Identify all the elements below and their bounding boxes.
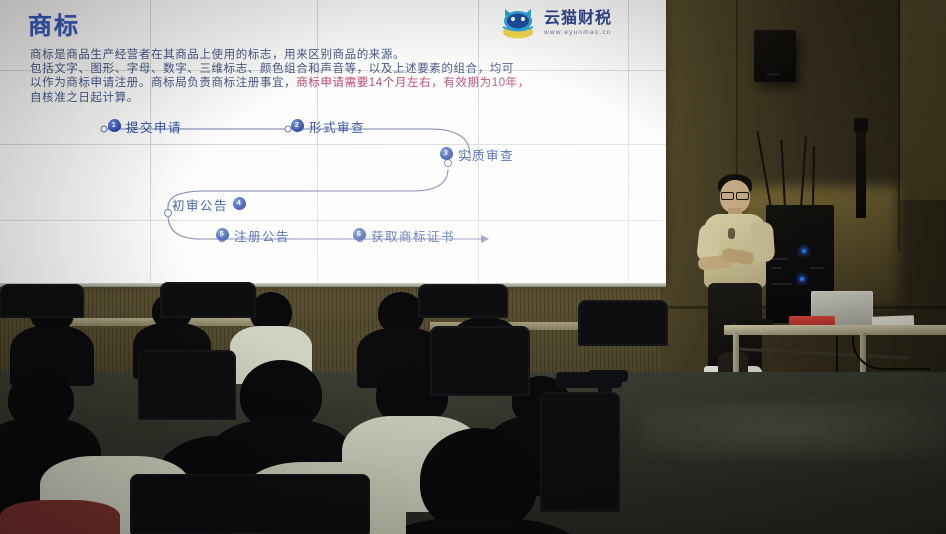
flow-node-label: 注册公告 bbox=[234, 226, 290, 245]
brand-name: 云猫财税 bbox=[544, 11, 612, 27]
audience-chair bbox=[0, 284, 84, 318]
audience-head bbox=[420, 428, 538, 532]
pa-speaker-on-pole bbox=[856, 128, 866, 218]
projected-slide: 商标 商标是商品生产经营者在其商品上使用的标志，用来区别商品的来源。 包括文字、… bbox=[0, 0, 666, 284]
slide-body-highlight: 商标申请需要14个月左右，有效期为10年， bbox=[296, 77, 530, 89]
flow-step-number: 2 bbox=[291, 119, 304, 132]
flow-step-badge-icon: 6 bbox=[353, 228, 366, 243]
wall-seam-vertical-2 bbox=[898, 0, 900, 250]
audience-chair bbox=[160, 282, 256, 318]
flow-step-badge-icon: 5 bbox=[216, 228, 229, 243]
floor-light-reflection bbox=[640, 400, 946, 460]
flow-node-3: 3实质审查 bbox=[440, 145, 514, 164]
status-led bbox=[802, 249, 806, 253]
flow-step-badge-icon: 2 bbox=[291, 119, 304, 134]
lecture-hall-scene: 商标 商标是商品生产经营者在其商品上使用的标志，用来区别商品的来源。 包括文字、… bbox=[0, 0, 946, 534]
audience-chair bbox=[430, 326, 530, 396]
audience-chair bbox=[578, 300, 668, 346]
presenter-table bbox=[724, 325, 946, 335]
audience-body bbox=[0, 500, 120, 534]
audience-chair bbox=[540, 392, 620, 512]
whiteboard-projection-surface: 商标 商标是商品生产经营者在其商品上使用的标志，用来区别商品的来源。 包括文字、… bbox=[0, 0, 666, 284]
flow-step-number: 6 bbox=[353, 228, 366, 241]
brand-url: www.eyunmao.cn bbox=[544, 30, 612, 37]
audience-chair bbox=[138, 350, 236, 420]
cat-logo-icon bbox=[498, 7, 538, 41]
flow-step-number: 3 bbox=[440, 147, 453, 160]
page-title: 商标 bbox=[28, 6, 80, 41]
flow-node-2: 2形式审查 bbox=[291, 117, 365, 136]
rack-vent bbox=[810, 267, 824, 269]
audience-chair-arm bbox=[556, 372, 622, 388]
flow-step-number: 4 bbox=[233, 197, 246, 210]
flow-node-1: 1提交申请 bbox=[108, 117, 182, 136]
flow-node-4: 4初审公告 bbox=[172, 195, 246, 214]
shirt-chest-print bbox=[728, 228, 735, 239]
flow-node-label: 获取商标证书 bbox=[371, 226, 455, 245]
flow-step-badge-icon: 3 bbox=[440, 147, 453, 162]
glasses-icon bbox=[721, 192, 749, 198]
flow-node-label: 提交申请 bbox=[126, 117, 182, 136]
brand-logo: 云猫财税 www.eyunmao.cn bbox=[498, 4, 658, 44]
flow-node-label: 初审公告 bbox=[172, 195, 228, 214]
flow-node-label: 形式审查 bbox=[309, 117, 365, 136]
audience-chair bbox=[130, 474, 370, 534]
slide-body-part-2: 自核准之日起计算。 bbox=[30, 92, 139, 104]
flow-step-number: 1 bbox=[108, 119, 121, 132]
whiteboard-bottom-edge bbox=[0, 283, 666, 287]
flow-step-number: 5 bbox=[216, 228, 229, 241]
slide-body-text: 商标是商品生产经营者在其商品上使用的标志，用来区别商品的来源。 包括文字、图形、… bbox=[30, 48, 656, 105]
wall-panel-far-right bbox=[900, 0, 946, 200]
wall-speaker-icon bbox=[754, 30, 796, 82]
presenter-sleeve-right bbox=[751, 221, 776, 262]
flow-node-label: 实质审查 bbox=[458, 145, 514, 164]
status-led bbox=[800, 277, 804, 281]
flow-node-5: 5注册公告 bbox=[216, 226, 290, 245]
flow-step-badge-icon: 1 bbox=[108, 119, 121, 134]
flow-step-badge-icon: 4 bbox=[233, 197, 246, 212]
audience-chair bbox=[418, 284, 508, 318]
flow-node-6: 6获取商标证书 bbox=[353, 226, 455, 245]
trademark-process-flow: 1提交申请2形式审查3实质审查4初审公告5注册公告6获取商标证书 bbox=[0, 103, 666, 263]
brand-logo-text: 云猫财税 www.eyunmao.cn bbox=[544, 11, 612, 37]
